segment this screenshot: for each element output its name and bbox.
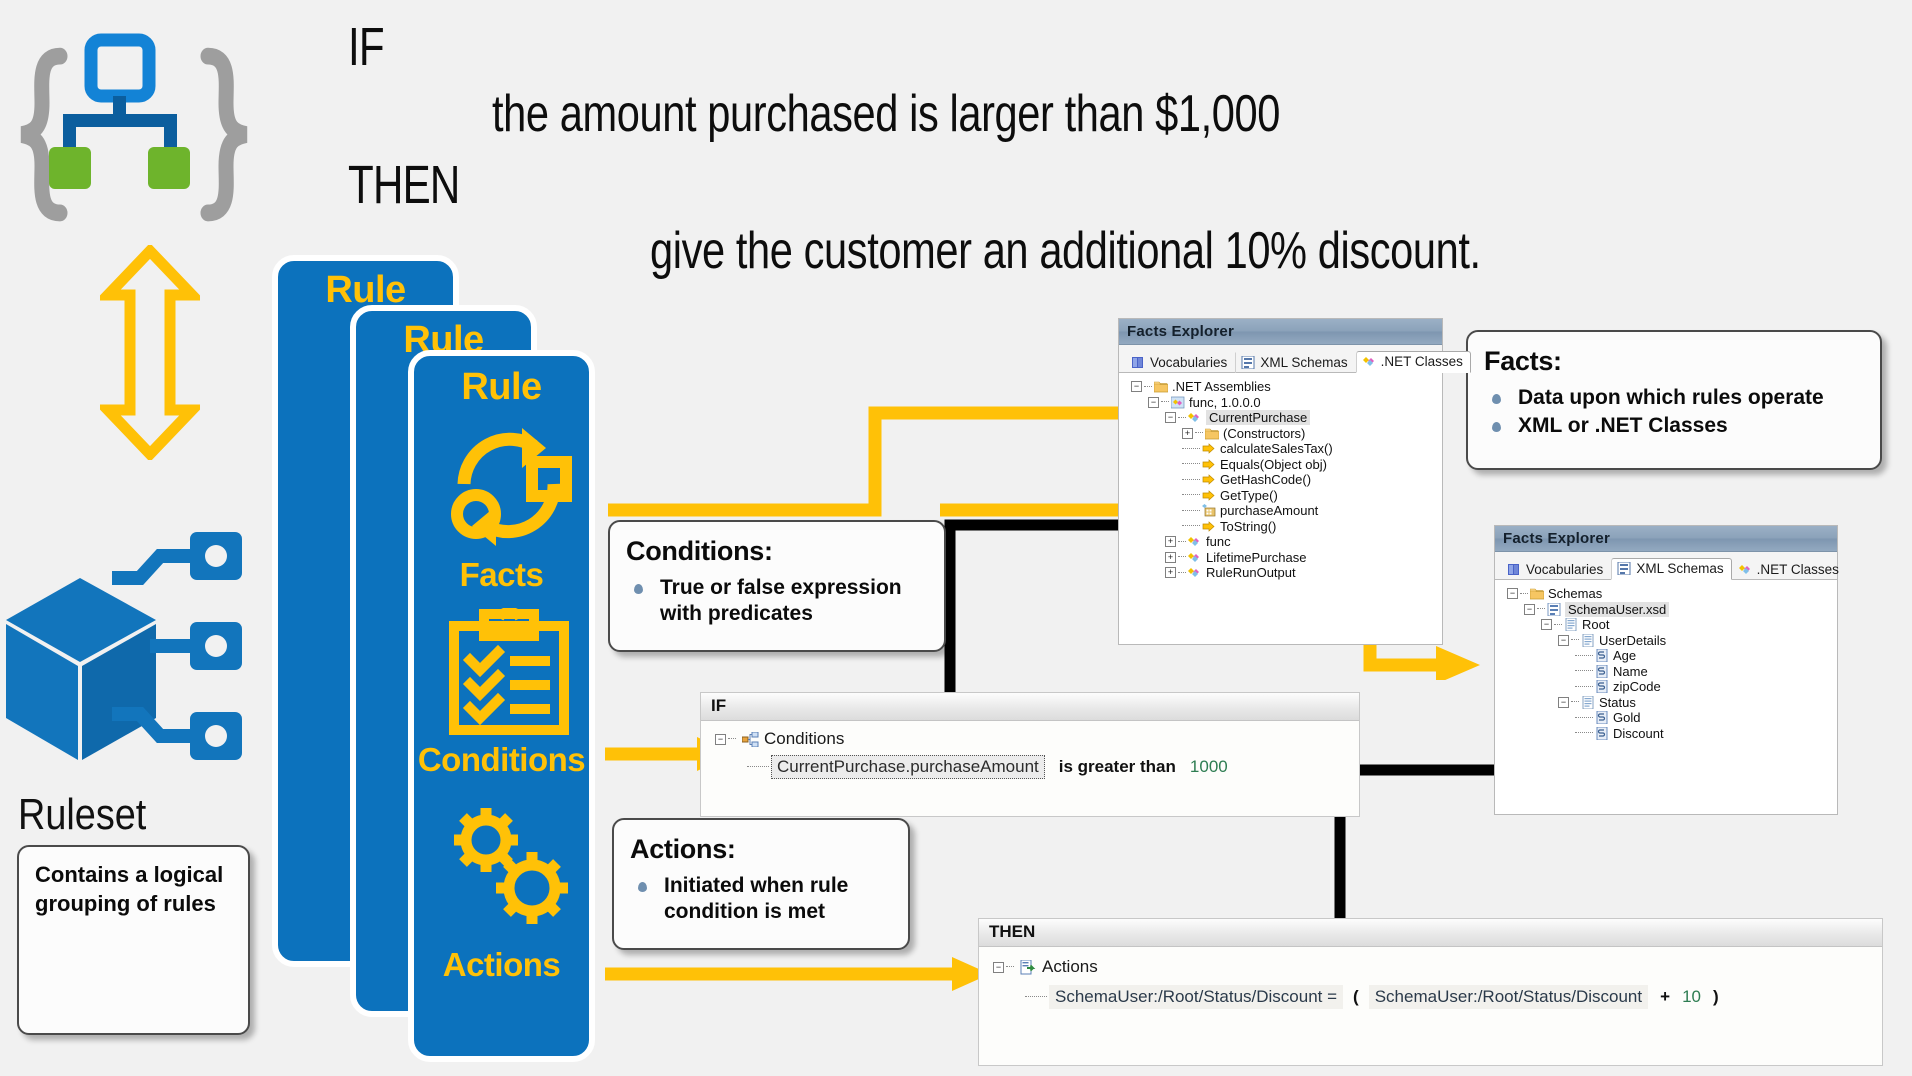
tree-node[interactable]: GetType() <box>1125 488 1442 504</box>
element-icon <box>1581 634 1595 647</box>
facts-explorer-net-tree[interactable]: −.NET Assemblies−func, 1.0.0.0−CurrentPu… <box>1119 373 1442 581</box>
gears-icon <box>438 794 578 939</box>
tree-node-label: calculateSalesTax() <box>1220 441 1333 456</box>
facts-explorer-xml-title: Facts Explorer <box>1495 526 1837 552</box>
conditions-callout: Conditions: True or false expression wit… <box>608 520 946 652</box>
field-icon <box>1202 504 1216 517</box>
tree-dots <box>1161 401 1169 403</box>
facts-callout: Facts: Data upon which rules operate XML… <box>1466 330 1882 470</box>
tree-toggle-minus[interactable]: − <box>1524 604 1535 615</box>
tree-node-label: Name <box>1613 664 1648 679</box>
tree-toggle-minus[interactable]: − <box>1131 381 1142 392</box>
tab-net-classes-xml-label: .NET Classes <box>1757 562 1839 577</box>
net-classes-icon <box>1362 355 1376 368</box>
actions-connector-arrow <box>605 955 995 995</box>
facts-callout-bullet-1: XML or .NET Classes <box>1484 413 1862 439</box>
tree-toggle-minus[interactable]: − <box>1558 635 1569 646</box>
if-editor-panel[interactable]: IF − Conditions CurrentPurchase.purchase… <box>700 692 1360 817</box>
element-icon <box>1581 696 1595 709</box>
rule-card-front[interactable]: Rule Facts Conditions <box>408 350 595 1062</box>
facts-explorer-net-window[interactable]: Facts Explorer Vocabularies XML Schemas … <box>1118 318 1443 645</box>
rule-card-actions-label: Actions <box>414 946 589 984</box>
tree-node[interactable]: Gold <box>1501 710 1837 726</box>
attribute-icon <box>1595 649 1609 662</box>
tree-node-label: Equals(Object obj) <box>1220 457 1327 472</box>
tree-node[interactable]: Name <box>1501 664 1837 680</box>
then-actions-label: Actions <box>1042 957 1098 977</box>
method-icon <box>1202 473 1216 486</box>
then-assign-target[interactable]: SchemaUser:/Root/Status/Discount = <box>1049 985 1343 1009</box>
facts-callout-bullet-0: Data upon which rules operate <box>1484 385 1862 411</box>
tree-node-label: ToString() <box>1220 519 1276 534</box>
facts-explorer-xml-tabs[interactable]: Vocabularies XML Schemas .NET Classes <box>1495 552 1837 580</box>
tree-node-label: Gold <box>1613 710 1640 725</box>
tree-node-label: GetHashCode() <box>1220 472 1311 487</box>
rule-card-front-title: Rule <box>414 366 589 409</box>
conditions-callout-title: Conditions: <box>626 536 926 567</box>
tree-dots <box>1575 670 1593 672</box>
tree-node-label: UserDetails <box>1599 633 1666 648</box>
tree-dots <box>1182 525 1200 527</box>
element-icon <box>1564 618 1578 631</box>
book-icon <box>1131 356 1145 369</box>
circular-sync-icon <box>442 418 574 561</box>
ruleset-description-text: Contains a logical grouping of rules <box>35 861 230 918</box>
tree-node-label: GetType() <box>1220 488 1278 503</box>
tree-node[interactable]: Discount <box>1501 726 1837 742</box>
tab-xml-schemas-xml[interactable]: XML Schemas <box>1611 558 1731 580</box>
tree-dots <box>1554 624 1562 626</box>
tree-node[interactable]: −UserDetails <box>1501 633 1837 649</box>
attribute-icon <box>1595 680 1609 693</box>
tree-dots <box>1025 996 1047 998</box>
actions-callout-list: Initiated when rule condition is met <box>630 873 890 926</box>
tree-node-label: func <box>1206 534 1231 549</box>
ruleset-cube-icon <box>0 500 270 805</box>
actions-callout-bullet-0: Initiated when rule condition is met <box>630 873 890 926</box>
tree-node[interactable]: −CurrentPurchase <box>1125 410 1442 426</box>
tree-dots <box>1182 494 1200 496</box>
tree-node-label: (Constructors) <box>1223 426 1305 441</box>
tree-node-label: Root <box>1582 617 1609 632</box>
tree-node[interactable]: +RuleRunOutput <box>1125 565 1442 581</box>
tree-node[interactable]: ToString() <box>1125 519 1442 535</box>
method-icon <box>1202 442 1216 455</box>
xml-schema-icon <box>1617 562 1631 575</box>
tree-node[interactable]: zipCode <box>1501 679 1837 695</box>
ruleset-title: Ruleset <box>18 790 146 840</box>
tree-node-label: Age <box>1613 648 1636 663</box>
tree-node[interactable]: GetHashCode() <box>1125 472 1442 488</box>
tree-node-label: Status <box>1599 695 1636 710</box>
tree-dots <box>1182 448 1200 450</box>
tree-dots <box>1178 541 1186 543</box>
then-operator: + <box>1660 987 1670 1007</box>
method-icon <box>1202 458 1216 471</box>
facts-callout-title: Facts: <box>1484 346 1862 377</box>
tree-node[interactable]: +func <box>1125 534 1442 550</box>
tree-dots <box>1182 510 1200 512</box>
tree-toggle-minus[interactable]: − <box>1558 697 1569 708</box>
tree-toggle-minus[interactable]: − <box>1541 619 1552 630</box>
attribute-icon <box>1595 727 1609 740</box>
up-down-arrow-icon <box>100 245 200 465</box>
facts-callout-list: Data upon which rules operate XML or .NE… <box>1484 385 1862 440</box>
tree-node[interactable]: calculateSalesTax() <box>1125 441 1442 457</box>
xml-schema-icon <box>1241 356 1255 369</box>
then-editor-panel[interactable]: THEN − Actions SchemaUser:/Root/Status/D… <box>978 918 1883 1066</box>
tab-net-classes[interactable]: .NET Classes <box>1356 351 1471 373</box>
then-actions-node[interactable]: − Actions <box>979 947 1882 977</box>
tab-xml-schemas-xml-label: XML Schemas <box>1636 561 1723 576</box>
then-actions-collapse-toggle[interactable]: − <box>993 962 1004 973</box>
tree-dots <box>1182 479 1200 481</box>
clipboard-checklist-icon <box>444 608 574 743</box>
page-title-condition: the amount purchased is larger than $1,0… <box>492 88 1280 140</box>
method-icon <box>1202 489 1216 502</box>
class-icon <box>1188 551 1202 564</box>
then-close-paren: ) <box>1713 987 1719 1007</box>
tree-dots <box>1571 639 1579 641</box>
tree-node[interactable]: −Status <box>1501 695 1837 711</box>
tree-dots <box>1575 686 1593 688</box>
then-editor-header: THEN <box>979 919 1882 947</box>
tree-node[interactable]: −Root <box>1501 617 1837 633</box>
then-open-paren: ( <box>1353 987 1359 1007</box>
tree-dots <box>1520 593 1528 595</box>
rule-card-facts-label: Facts <box>414 556 589 594</box>
tree-node-label: LifetimePurchase <box>1206 550 1306 565</box>
net-classes-icon <box>1738 563 1752 576</box>
tab-xml-schemas-label: XML Schemas <box>1260 355 1347 370</box>
tree-node-label: .NET Assemblies <box>1172 379 1271 394</box>
tab-vocabularies-xml-label: Vocabularies <box>1526 562 1603 577</box>
tree-node-label: CurrentPurchase <box>1206 410 1310 425</box>
page-title-if: IF <box>348 20 384 74</box>
tree-node-label: Discount <box>1613 726 1664 741</box>
ruleset-description-callout: Contains a logical grouping of rules <box>17 845 250 1035</box>
class-icon <box>1188 566 1202 579</box>
folder-icon <box>1205 427 1219 440</box>
tree-node-label: SchemaUser.xsd <box>1565 602 1669 617</box>
facts-explorer-net-title: Facts Explorer <box>1119 319 1442 345</box>
tree-toggle-plus[interactable]: + <box>1165 536 1176 547</box>
tree-node[interactable]: purchaseAmount <box>1125 503 1442 519</box>
then-expression-row[interactable]: SchemaUser:/Root/Status/Discount = ( Sch… <box>979 977 1882 1009</box>
actions-callout: Actions: Initiated when rule condition i… <box>612 818 910 950</box>
tree-node-label: zipCode <box>1613 679 1661 694</box>
rule-card-conditions-label: Conditions <box>414 741 589 779</box>
tree-dots <box>1575 655 1593 657</box>
tree-dots <box>1178 572 1186 574</box>
tree-toggle-minus[interactable]: − <box>1165 412 1176 423</box>
attribute-icon <box>1595 665 1609 678</box>
if-expression-operand[interactable]: CurrentPurchase.purchaseAmount <box>771 755 1045 779</box>
tree-dots <box>1537 608 1545 610</box>
tree-dots <box>1571 701 1579 703</box>
tree-dots <box>728 738 736 740</box>
tree-dots <box>1195 432 1203 434</box>
tree-dots <box>1006 966 1014 968</box>
assembly-icon <box>1171 396 1185 409</box>
tab-xml-schemas[interactable]: XML Schemas <box>1235 352 1355 373</box>
if-expression-value[interactable]: 1000 <box>1190 757 1228 777</box>
if-conditions-label: Conditions <box>764 729 844 749</box>
tab-net-classes-xml[interactable]: .NET Classes <box>1732 559 1847 580</box>
tree-toggle-plus[interactable]: + <box>1165 552 1176 563</box>
braces-hierarchy-icon <box>8 10 270 240</box>
if-conditions-collapse-toggle[interactable]: − <box>715 734 726 745</box>
tree-dots <box>1575 717 1593 719</box>
page-title-action: give the customer an additional 10% disc… <box>650 225 1481 277</box>
conditions-callout-bullet-0: True or false expression with predicates <box>626 575 926 628</box>
tab-net-classes-label: .NET Classes <box>1381 354 1463 369</box>
book-icon <box>1507 563 1521 576</box>
tab-vocabularies[interactable]: Vocabularies <box>1125 352 1235 373</box>
tree-toggle-plus[interactable]: + <box>1165 567 1176 578</box>
tree-dots <box>1182 463 1200 465</box>
tree-node[interactable]: Equals(Object obj) <box>1125 457 1442 473</box>
tree-dots <box>1178 417 1186 419</box>
class-icon <box>1188 535 1202 548</box>
facts-explorer-net-tabs[interactable]: Vocabularies XML Schemas .NET Classes <box>1119 345 1442 373</box>
actions-callout-title: Actions: <box>630 834 890 865</box>
folder-icon <box>1530 587 1544 600</box>
method-icon <box>1202 520 1216 533</box>
tree-node[interactable]: +(Constructors) <box>1125 426 1442 442</box>
tree-dots <box>1178 556 1186 558</box>
actions-tree-icon <box>1020 960 1036 975</box>
tree-dots <box>1144 386 1152 388</box>
if-conditions-node[interactable]: − Conditions <box>701 721 1359 749</box>
then-value[interactable]: 10 <box>1682 987 1701 1007</box>
tree-node-label: Schemas <box>1548 586 1602 601</box>
conditions-tree-icon <box>742 732 759 747</box>
tree-node-label: RuleRunOutput <box>1206 565 1296 580</box>
if-expression-row[interactable]: CurrentPurchase.purchaseAmount is greate… <box>701 749 1359 779</box>
tree-toggle-minus[interactable]: − <box>1148 397 1159 408</box>
tree-node-label: func, 1.0.0.0 <box>1189 395 1261 410</box>
tree-toggle-minus[interactable]: − <box>1507 588 1518 599</box>
page-title-then: THEN <box>348 158 460 212</box>
tree-node[interactable]: +LifetimePurchase <box>1125 550 1442 566</box>
xsd-icon <box>1547 603 1561 616</box>
tree-node-label: purchaseAmount <box>1220 503 1318 518</box>
tree-dots <box>1575 732 1593 734</box>
class-icon <box>1188 411 1202 424</box>
if-expression-operator: is greater than <box>1059 757 1176 777</box>
tree-dots <box>747 766 769 768</box>
facts-explorer-xml-tree[interactable]: −Schemas−SchemaUser.xsd−Root−UserDetails… <box>1495 580 1837 741</box>
tree-node[interactable]: −SchemaUser.xsd <box>1501 602 1837 618</box>
tab-vocabularies-xml[interactable]: Vocabularies <box>1501 559 1611 580</box>
tree-node[interactable]: Age <box>1501 648 1837 664</box>
tree-node[interactable]: −func, 1.0.0.0 <box>1125 395 1442 411</box>
attribute-icon <box>1595 711 1609 724</box>
tab-vocabularies-label: Vocabularies <box>1150 355 1227 370</box>
folder-icon <box>1154 380 1168 393</box>
facts-explorer-xml-window[interactable]: Facts Explorer Vocabularies XML Schemas … <box>1494 525 1838 815</box>
conditions-callout-list: True or false expression with predicates <box>626 575 926 628</box>
then-assign-source[interactable]: SchemaUser:/Root/Status/Discount <box>1369 985 1648 1009</box>
tree-toggle-plus[interactable]: + <box>1182 428 1193 439</box>
if-editor-header: IF <box>701 693 1359 721</box>
tree-node[interactable]: −.NET Assemblies <box>1125 379 1442 395</box>
tree-node[interactable]: −Schemas <box>1501 586 1837 602</box>
